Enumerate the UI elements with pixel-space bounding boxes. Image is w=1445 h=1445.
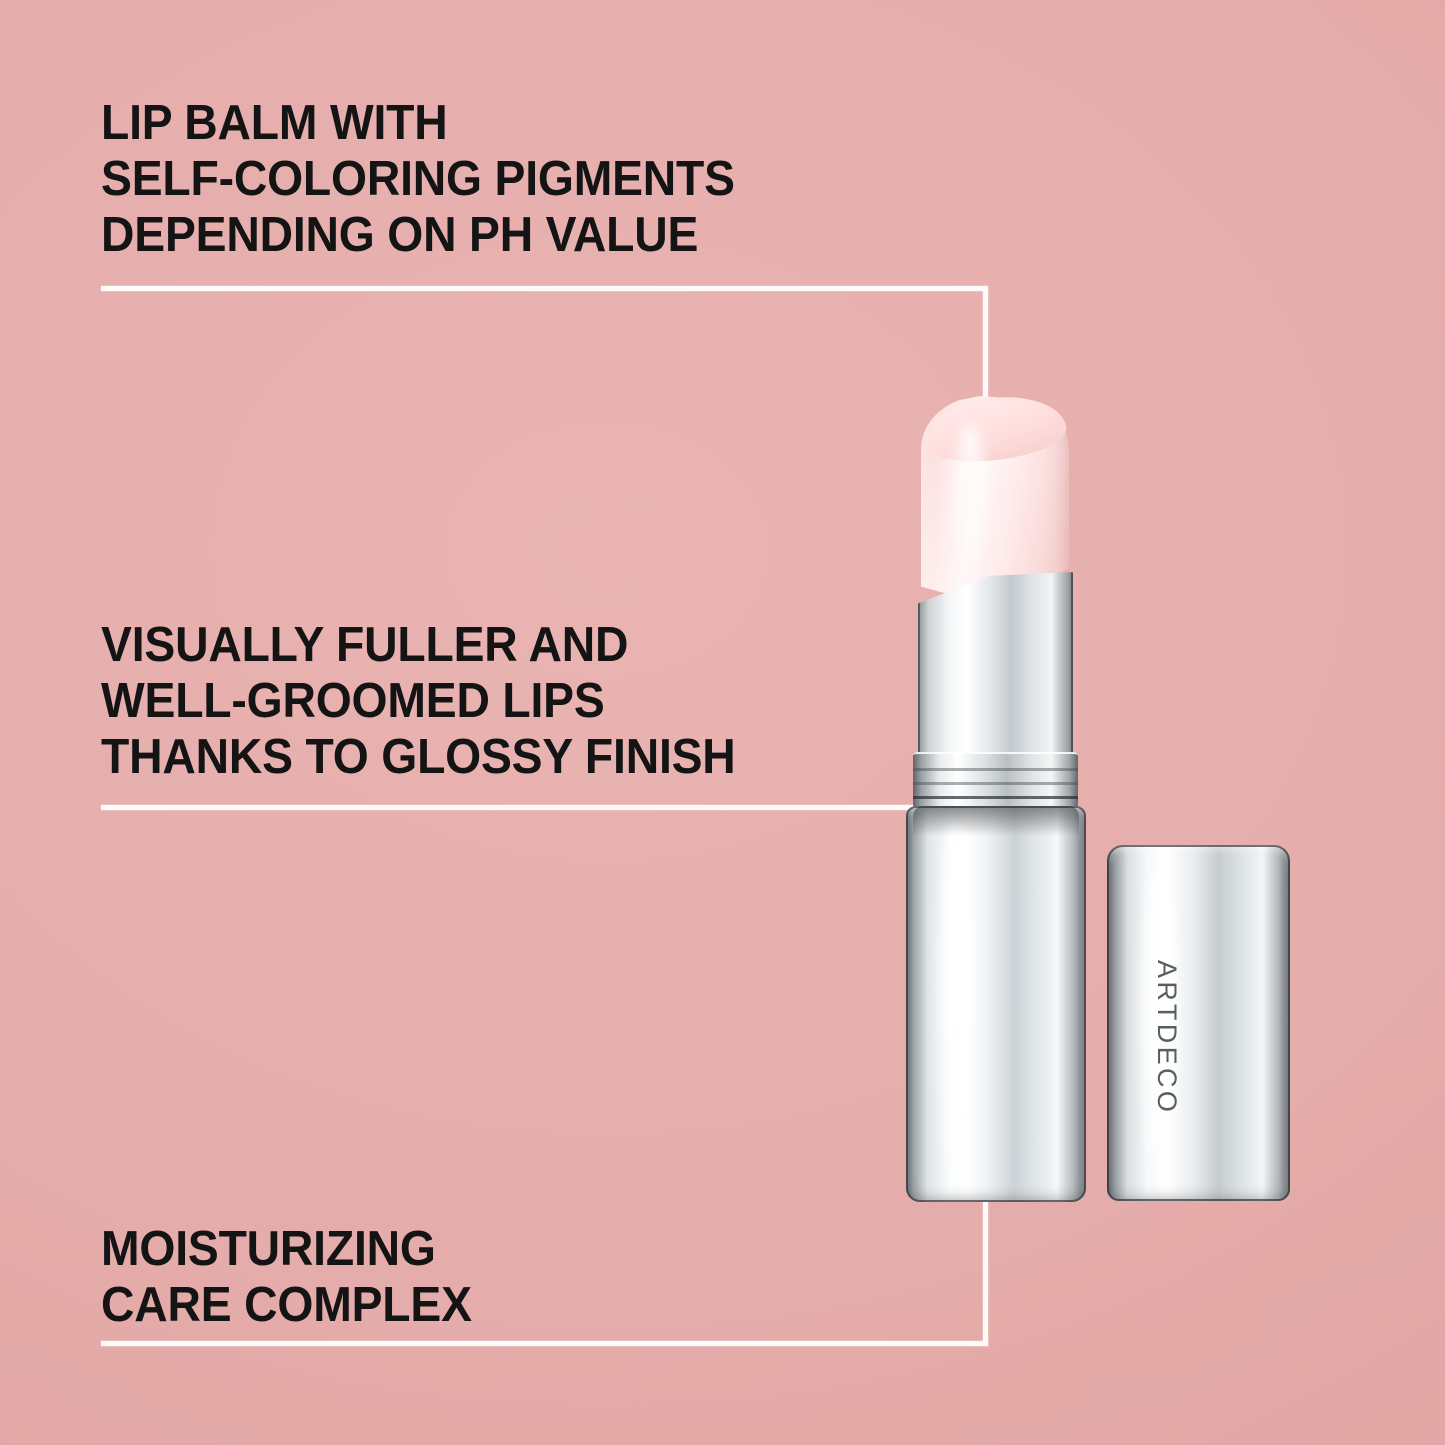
tube-collar-ring xyxy=(913,782,1078,785)
callout-text-lip-balm-pigments: LIP BALM WITH SELF-COLORING PIGMENTS DEP… xyxy=(101,96,735,264)
product-feature-callout-image: ARTDECO LIP BALM WITH SELF-COLORING PIGM… xyxy=(0,0,1445,1445)
brand-logo-artdeco: ARTDECO xyxy=(1151,960,1182,1160)
callout-3-connector-vertical xyxy=(983,1198,988,1346)
lip-balm-bullet-highlight xyxy=(955,424,985,574)
callout-text-fuller-lips: VISUALLY FULLER AND WELL-GROOMED LIPS TH… xyxy=(101,618,736,786)
tube-body-outline xyxy=(906,806,1086,1202)
tube-collar xyxy=(913,752,1078,808)
tube-collar-ring xyxy=(913,796,1078,799)
callout-3-connector-horizontal xyxy=(101,1341,988,1346)
callout-text-moisturizing-care: MOISTURIZING CARE COMPLEX xyxy=(101,1222,472,1334)
callout-2-connector-horizontal xyxy=(101,805,926,810)
callout-1-connector-horizontal xyxy=(101,286,987,291)
tube-collar-ring xyxy=(913,768,1078,771)
tube-inner-sleeve-outline xyxy=(918,572,1073,768)
tube-cap-outline xyxy=(1107,845,1290,1201)
